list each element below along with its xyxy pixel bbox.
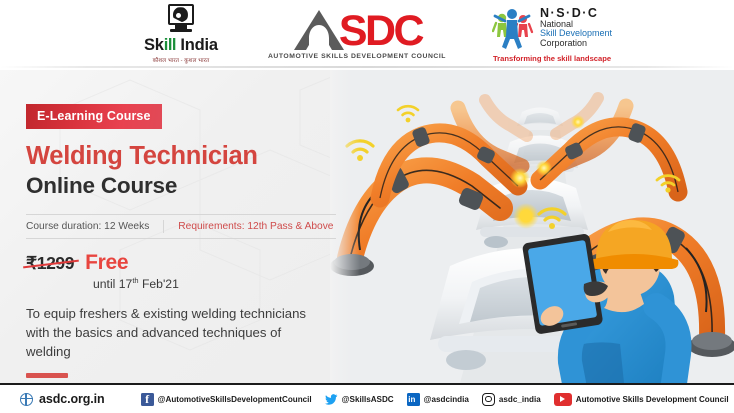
- linkedin-handle: @asdcindia: [424, 395, 469, 404]
- nsdc-tagline: Transforming the skill landscape: [493, 54, 611, 63]
- course-description: To equip freshers & existing welding tec…: [26, 304, 316, 361]
- social-link-instagram[interactable]: asdc_india: [482, 393, 541, 406]
- social-link-youtube[interactable]: Automotive Skills Development Council: [554, 393, 729, 406]
- footer-bar: asdc.org.in @AutomotiveSkillsDevelopment…: [0, 383, 734, 413]
- logo-nsdc: N·S·D·C National Skill Development Corpo…: [492, 6, 612, 63]
- course-requirements-value: 12th Pass & Above: [247, 221, 333, 232]
- youtube-handle: Automotive Skills Development Council: [576, 395, 729, 404]
- skill-india-wordmark: Skill India: [144, 37, 218, 54]
- course-requirements-label: Requirements:: [178, 221, 244, 232]
- logo-asdc: SDC AUTOMOTIVE SKILLS DEVELOPMENT COUNCI…: [268, 8, 446, 60]
- skill-india-subtitle: कौशल भारत - कुशल भारत: [153, 56, 210, 64]
- robotic-welding-illustration: [330, 70, 734, 383]
- course-duration: Course duration: 12 Weeks: [26, 221, 149, 232]
- asdc-a-mark-icon: [292, 8, 348, 52]
- website-label: asdc.org.in: [39, 392, 105, 406]
- nsdc-abbreviation: N·S·D·C: [540, 7, 612, 20]
- instagram-handle: asdc_india: [499, 395, 541, 404]
- globe-icon: [20, 393, 33, 406]
- offer-deadline: until 17th Feb'21: [93, 276, 366, 291]
- social-link-twitter[interactable]: @SkillsASDC: [325, 393, 394, 406]
- course-meta-row: Course duration: 12 Weeks Requirements: …: [26, 214, 336, 239]
- currency-symbol: ₹: [26, 253, 37, 273]
- youtube-icon: [554, 393, 572, 406]
- current-price: Free: [85, 251, 128, 275]
- course-duration-value: 12 Weeks: [104, 221, 149, 232]
- asdc-letters: SDC: [339, 11, 422, 52]
- website-link[interactable]: asdc.org.in: [20, 392, 105, 406]
- hero-banner: E-Learning Course Welding Technician Onl…: [0, 70, 734, 383]
- meta-divider: [163, 220, 164, 233]
- original-price: ₹1299: [26, 253, 76, 274]
- social-link-linkedin[interactable]: @asdcindia: [407, 393, 469, 406]
- social-link-facebook[interactable]: @AutomotiveSkillsDevelopmentCouncil: [141, 393, 312, 406]
- linkedin-icon: [407, 393, 420, 406]
- hero-content: E-Learning Course Welding Technician Onl…: [26, 70, 366, 378]
- price-row: ₹1299 Free: [26, 251, 366, 275]
- asdc-subtitle: AUTOMOTIVE SKILLS DEVELOPMENT COUNCIL: [268, 53, 446, 60]
- course-type-badge: E-Learning Course: [26, 104, 162, 129]
- course-title-primary: Welding Technician: [26, 143, 366, 170]
- instagram-icon: [482, 393, 495, 406]
- twitter-icon: [325, 393, 338, 406]
- course-requirements: Requirements: 12th Pass & Above: [178, 221, 333, 232]
- logo-skill-india: Skill India कौशल भारत - कुशल भारत: [122, 4, 240, 64]
- social-links: @AutomotiveSkillsDevelopmentCouncil @Ski…: [141, 393, 734, 406]
- facebook-handle: @AutomotiveSkillsDevelopmentCouncil: [158, 395, 312, 404]
- logo-bar: Skill India कौशल भारत - कुशल भारत SDC AU…: [0, 0, 734, 68]
- accent-dash: [26, 373, 68, 378]
- course-title-secondary: Online Course: [26, 174, 366, 199]
- nsdc-line-3: Corporation: [540, 39, 612, 48]
- skill-india-emblem-icon: [166, 4, 196, 34]
- nsdc-people-icon: [492, 6, 534, 50]
- twitter-handle: @SkillsASDC: [342, 395, 394, 404]
- course-duration-label: Course duration:: [26, 221, 101, 232]
- facebook-icon: [141, 393, 154, 406]
